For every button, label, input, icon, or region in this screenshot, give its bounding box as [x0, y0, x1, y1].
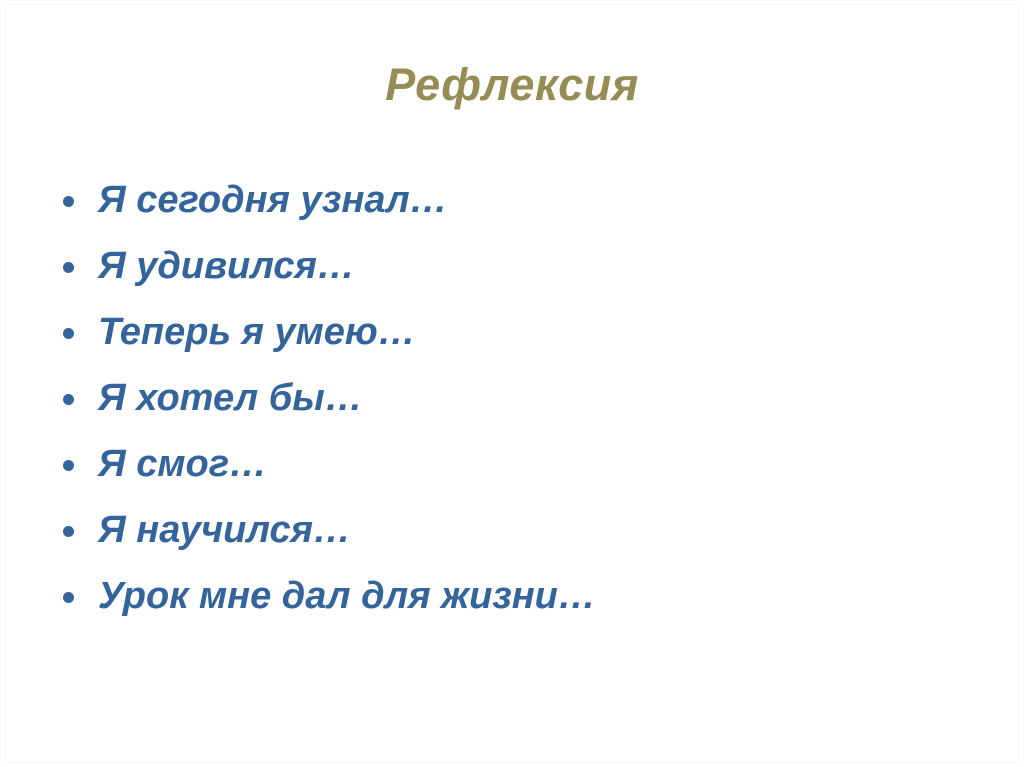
bullet-dot-icon — [59, 251, 98, 281]
list-item[interactable]: Я научился… — [59, 511, 983, 577]
list-item[interactable]: Я смог… — [59, 445, 983, 511]
list-item-label: Я сегодня узнал… — [98, 181, 448, 219]
list-item-label: Урок мне дал для жизни… — [98, 577, 596, 615]
list-item-label: Я смог… — [98, 445, 267, 483]
bullet-dot-icon — [59, 383, 98, 413]
presentation-slide: Рефлексия Я сегодня узнал… Я удивился… Т… — [0, 0, 1024, 767]
list-item[interactable]: Я удивился… — [59, 247, 983, 313]
bullet-dot-icon — [59, 515, 98, 545]
list-item-label: Я научился… — [98, 511, 351, 549]
bullet-dot-icon — [59, 317, 98, 347]
page-title: Рефлексия — [1, 59, 1023, 111]
bullet-dot-icon — [59, 185, 98, 215]
bullet-dot-icon — [59, 581, 98, 611]
list-item-label: Я удивился… — [98, 247, 355, 285]
list-item[interactable]: Теперь я умею… — [59, 313, 983, 379]
reflection-bullet-list: Я сегодня узнал… Я удивился… Теперь я ум… — [59, 181, 983, 643]
list-item-label: Теперь я умею… — [98, 313, 416, 351]
bullet-dot-icon — [59, 449, 98, 479]
list-item[interactable]: Я сегодня узнал… — [59, 181, 983, 247]
list-item[interactable]: Я хотел бы… — [59, 379, 983, 445]
list-item[interactable]: Урок мне дал для жизни… — [59, 577, 983, 643]
list-item-label: Я хотел бы… — [98, 379, 363, 417]
